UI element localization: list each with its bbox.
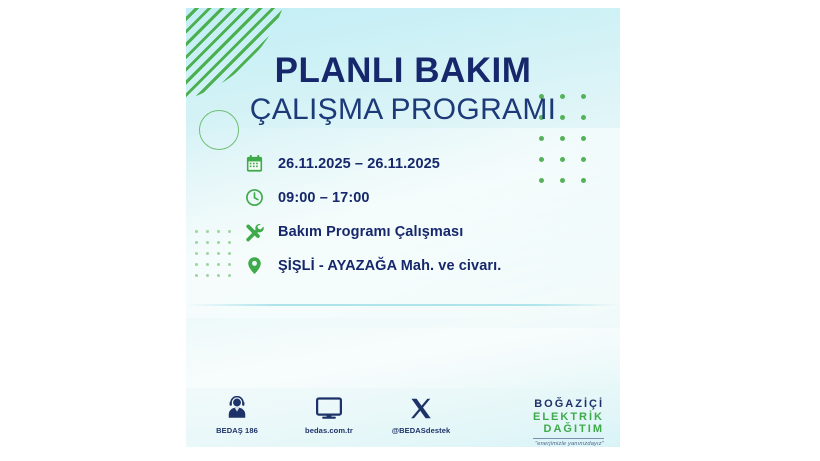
tools-icon xyxy=(244,222,264,242)
info-row-worktype-text: Bakım Programı Çalışması xyxy=(278,224,463,240)
brand-line-bogazici: BOĞAZİÇİ xyxy=(533,398,604,411)
contact-item-x[interactable]: @BEDASdestek xyxy=(386,394,456,435)
background-sheen-lower xyxy=(186,328,620,388)
background-divider-line xyxy=(186,304,620,306)
screenshot-stage: PLANLI BAKIM ÇALIŞMA PROGRAMI xyxy=(0,0,820,461)
clock-icon xyxy=(244,188,264,208)
brand-line-dagitim: DAĞITIM xyxy=(533,423,604,436)
contact-item-x-label: @BEDASdestek xyxy=(392,426,451,435)
page-title: PLANLI BAKIM xyxy=(186,53,620,88)
contact-item-website-label: bedas.com.tr xyxy=(305,426,353,435)
location-pin-icon xyxy=(244,256,264,276)
brand-tagline: "enerjimizle yanınızdayız" xyxy=(533,438,604,447)
call-center-agent-icon xyxy=(226,394,248,420)
calendar-icon xyxy=(244,154,264,174)
planned-maintenance-poster: PLANLI BAKIM ÇALIŞMA PROGRAMI xyxy=(186,8,620,447)
contact-item-callcenter-label: BEDAŞ 186 xyxy=(216,426,258,435)
monitor-icon xyxy=(316,394,342,420)
footer-contact-list: BEDAŞ 186 bedas.com.tr xyxy=(202,394,456,435)
info-row-worktype: Bakım Programı Çalışması xyxy=(244,220,501,243)
page-subtitle: ÇALIŞMA PROGRAMI xyxy=(186,95,620,125)
info-row-time: 09:00 – 17:00 xyxy=(244,186,501,209)
poster-heading-block: PLANLI BAKIM ÇALIŞMA PROGRAMI xyxy=(186,53,620,125)
brand-line-elektrik: ELEKTRİK xyxy=(533,411,604,424)
maintenance-info-list: 26.11.2025 – 26.11.2025 09:00 – 17:00 xyxy=(244,152,501,277)
bedas-brand-logo: BOĞAZİÇİ ELEKTRİK DAĞITIM "enerjimizle y… xyxy=(533,398,604,447)
info-row-time-text: 09:00 – 17:00 xyxy=(278,190,370,206)
contact-item-callcenter[interactable]: BEDAŞ 186 xyxy=(202,394,272,435)
info-row-date-text: 26.11.2025 – 26.11.2025 xyxy=(278,156,440,172)
info-row-location: ŞİŞLİ - AYAZAĞA Mah. ve civarı. xyxy=(244,254,501,277)
dot-grid-left-decoration-icon xyxy=(195,230,239,285)
contact-item-website[interactable]: bedas.com.tr xyxy=(294,394,364,435)
x-twitter-icon xyxy=(410,394,432,420)
info-row-date: 26.11.2025 – 26.11.2025 xyxy=(244,152,501,175)
info-row-location-text: ŞİŞLİ - AYAZAĞA Mah. ve civarı. xyxy=(278,258,501,274)
